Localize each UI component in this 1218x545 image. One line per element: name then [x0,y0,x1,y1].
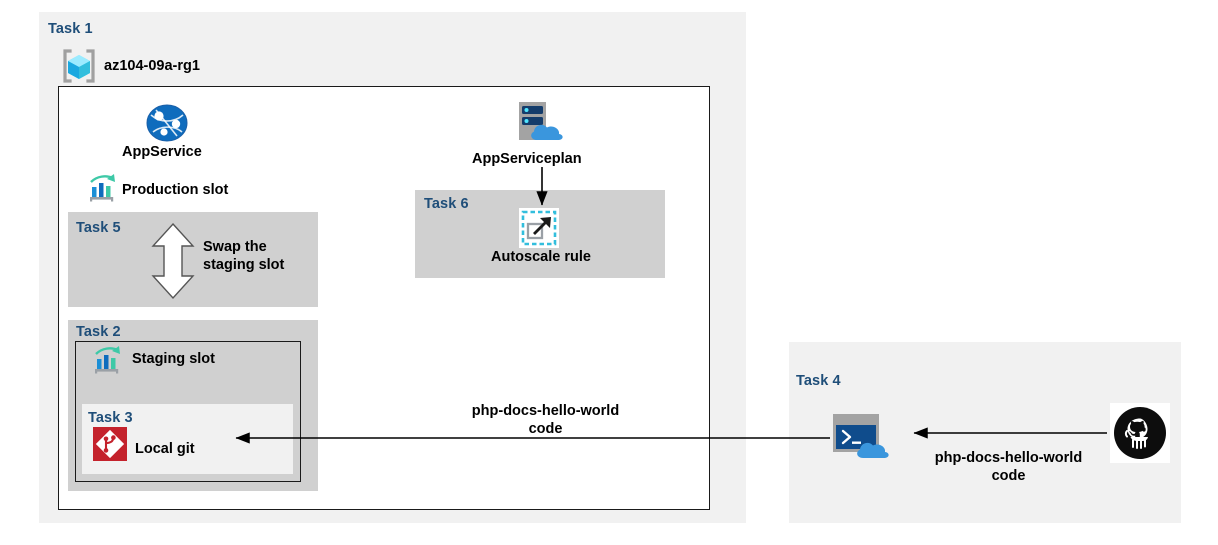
github-to-cloudshell-edge-label: php-docs-hello-world code [926,449,1091,485]
cloud-shell-icon [833,414,897,460]
app-service-plan-label: AppServiceplan [472,150,582,168]
autoscale-icon [519,208,559,248]
edge-label-line2: code [463,420,628,438]
production-slot-icon [88,174,118,202]
app-service-plan-icon [513,98,571,150]
swap-label: Swap the staging slot [203,238,284,274]
app-service-label: AppService [122,143,202,161]
double-arrow-vertical-icon [148,222,198,300]
github-edge-label-line1: php-docs-hello-world [926,449,1091,467]
production-slot-label: Production slot [122,181,228,199]
swap-label-line2: staging slot [203,256,284,274]
cloudshell-to-localgit-edge-label: php-docs-hello-world code [463,402,628,438]
task2-label: Task 2 [76,324,121,340]
swap-label-line1: Swap the [203,238,284,256]
autoscale-rule-label: Autoscale rule [491,248,591,266]
task6-label: Task 6 [424,196,469,212]
github-edge-label-line2: code [926,467,1091,485]
github-octocat-icon [1110,403,1170,463]
app-service-globe-icon [146,104,188,142]
staging-slot-icon [93,346,123,374]
task4-label: Task 4 [796,373,841,389]
local-git-label: Local git [135,440,195,458]
diagram-canvas: Task 1 az104-09a-rg1 AppService [0,0,1218,545]
resource-group-icon [59,48,99,84]
task3-label: Task 3 [88,410,133,426]
task5-label: Task 5 [76,220,121,236]
resource-group-label: az104-09a-rg1 [104,57,200,75]
edge-label-line1: php-docs-hello-world [463,402,628,420]
task1-label: Task 1 [48,21,93,37]
staging-slot-label: Staging slot [132,350,215,368]
git-icon [93,427,127,461]
